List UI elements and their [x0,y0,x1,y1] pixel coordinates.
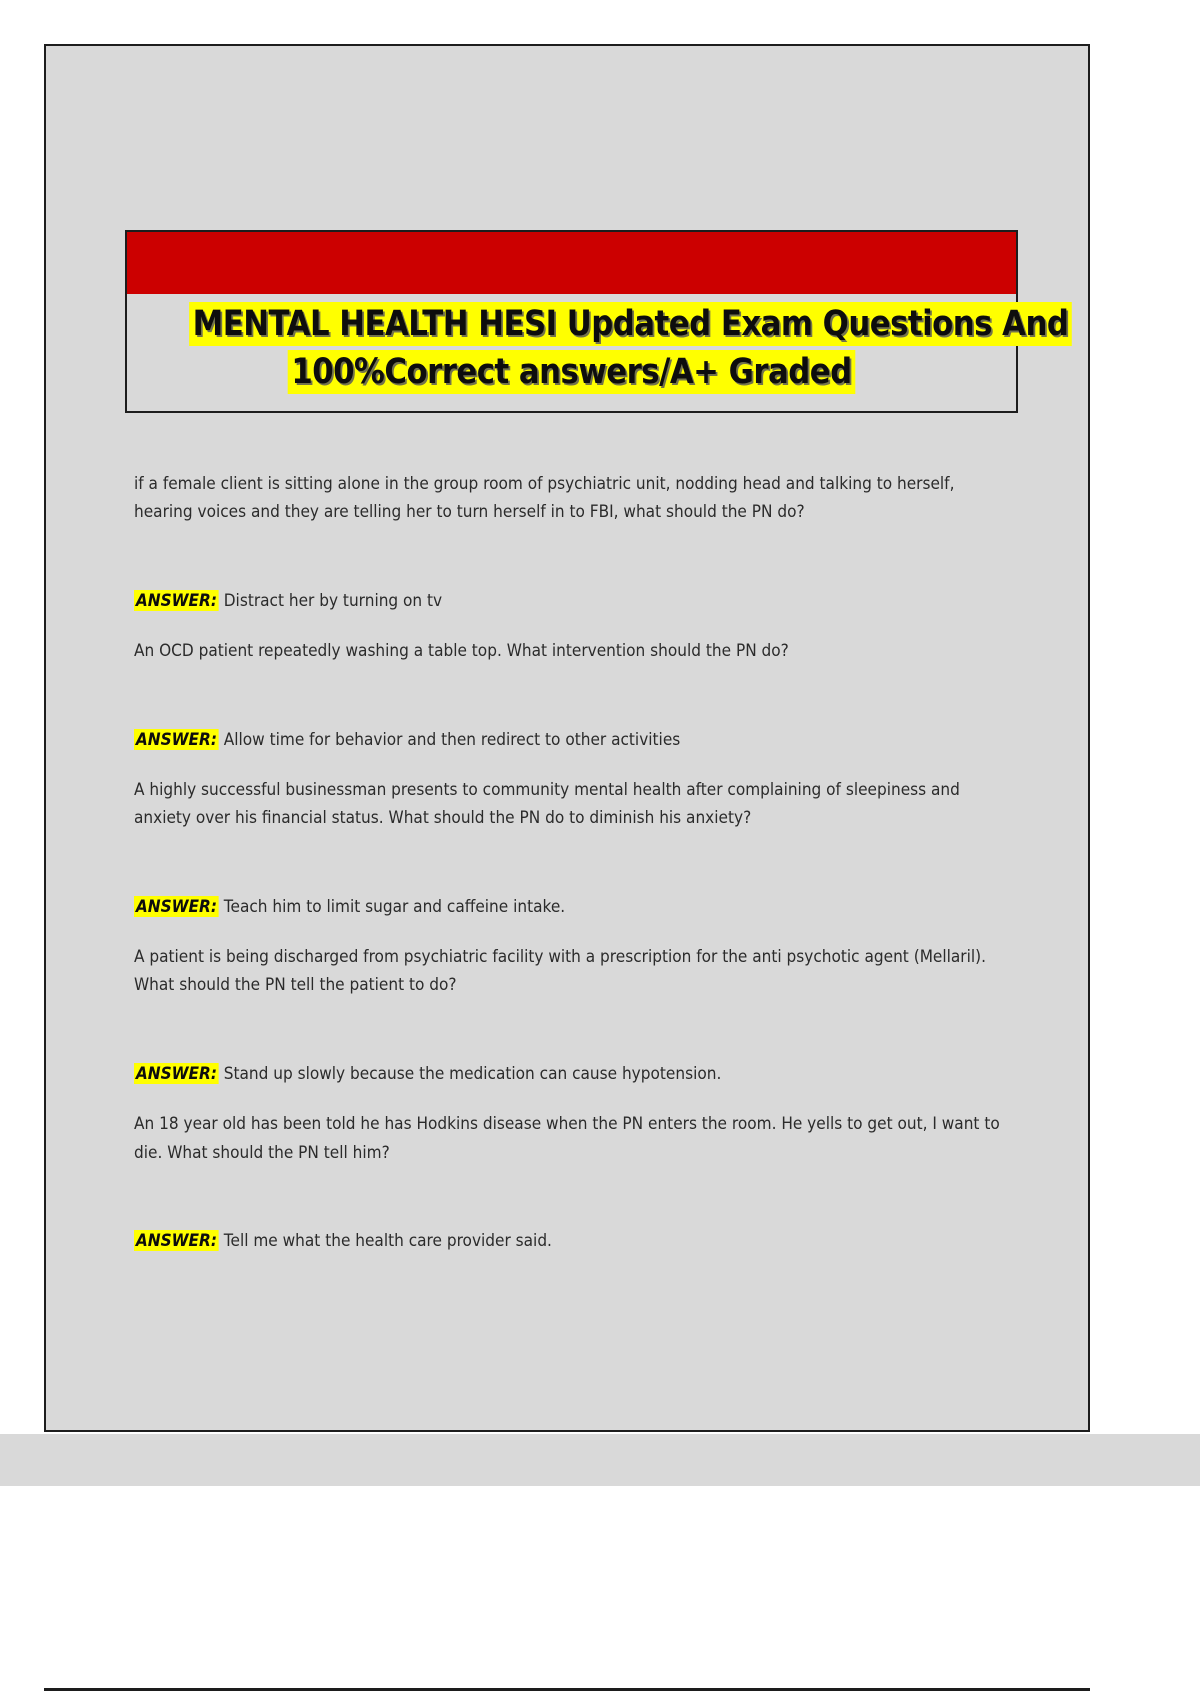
answer-line: ANSWER: Allow time for behavior and then… [134,726,1008,754]
answer-line: ANSWER: Teach him to limit sugar and caf… [134,893,1008,921]
title-line-1-text: MENTAL HEALTH HESI Updated Exam Question… [189,302,1072,346]
answer-label: ANSWER: [134,1230,219,1251]
title-text-group: MENTAL HEALTH HESI Updated Exam Question… [127,294,1016,401]
answer-text: Teach him to limit sugar and caffeine in… [224,897,565,916]
document-page-1: MENTAL HEALTH HESI Updated Exam Question… [44,44,1090,1432]
answer-label: ANSWER: [134,896,219,917]
question-text: An 18 year old has been told he has Hodk… [134,1110,1008,1167]
title-card: MENTAL HEALTH HESI Updated Exam Question… [125,230,1018,413]
document-title-line-1: MENTAL HEALTH HESI Updated Exam Question… [186,300,958,348]
answer-line: ANSWER: Distract her by turning on tv [134,587,1008,615]
answer-text: Stand up slowly because the medication c… [224,1064,722,1083]
answer-label: ANSWER: [134,729,219,750]
question-text: A highly successful businessman presents… [134,776,1008,833]
document-title-line-2: 100%Correct answers/A+ Graded [186,348,958,396]
question-text: A patient is being discharged from psych… [134,943,1008,1000]
title-line-2-text: 100%Correct answers/A+ Graded [288,350,855,394]
answer-label: ANSWER: [134,590,219,611]
answer-line: ANSWER: Stand up slowly because the medi… [134,1060,1008,1088]
answer-text: Distract her by turning on tv [224,591,442,610]
answer-text: Tell me what the health care provider sa… [224,1231,552,1250]
question-text: if a female client is sitting alone in t… [134,470,1008,527]
red-accent-bar [127,232,1016,294]
answer-text: Allow time for behavior and then redirec… [224,730,681,749]
next-page-sliver [0,1434,1200,1486]
question-text: An OCD patient repeatedly washing a tabl… [134,637,1008,665]
page-gap [0,1486,1200,1498]
document-body: if a female client is sitting alone in t… [134,470,1012,1277]
answer-line: ANSWER: Tell me what the health care pro… [134,1227,1008,1255]
page-2-top-border [44,1688,1090,1691]
answer-label: ANSWER: [134,1063,219,1084]
